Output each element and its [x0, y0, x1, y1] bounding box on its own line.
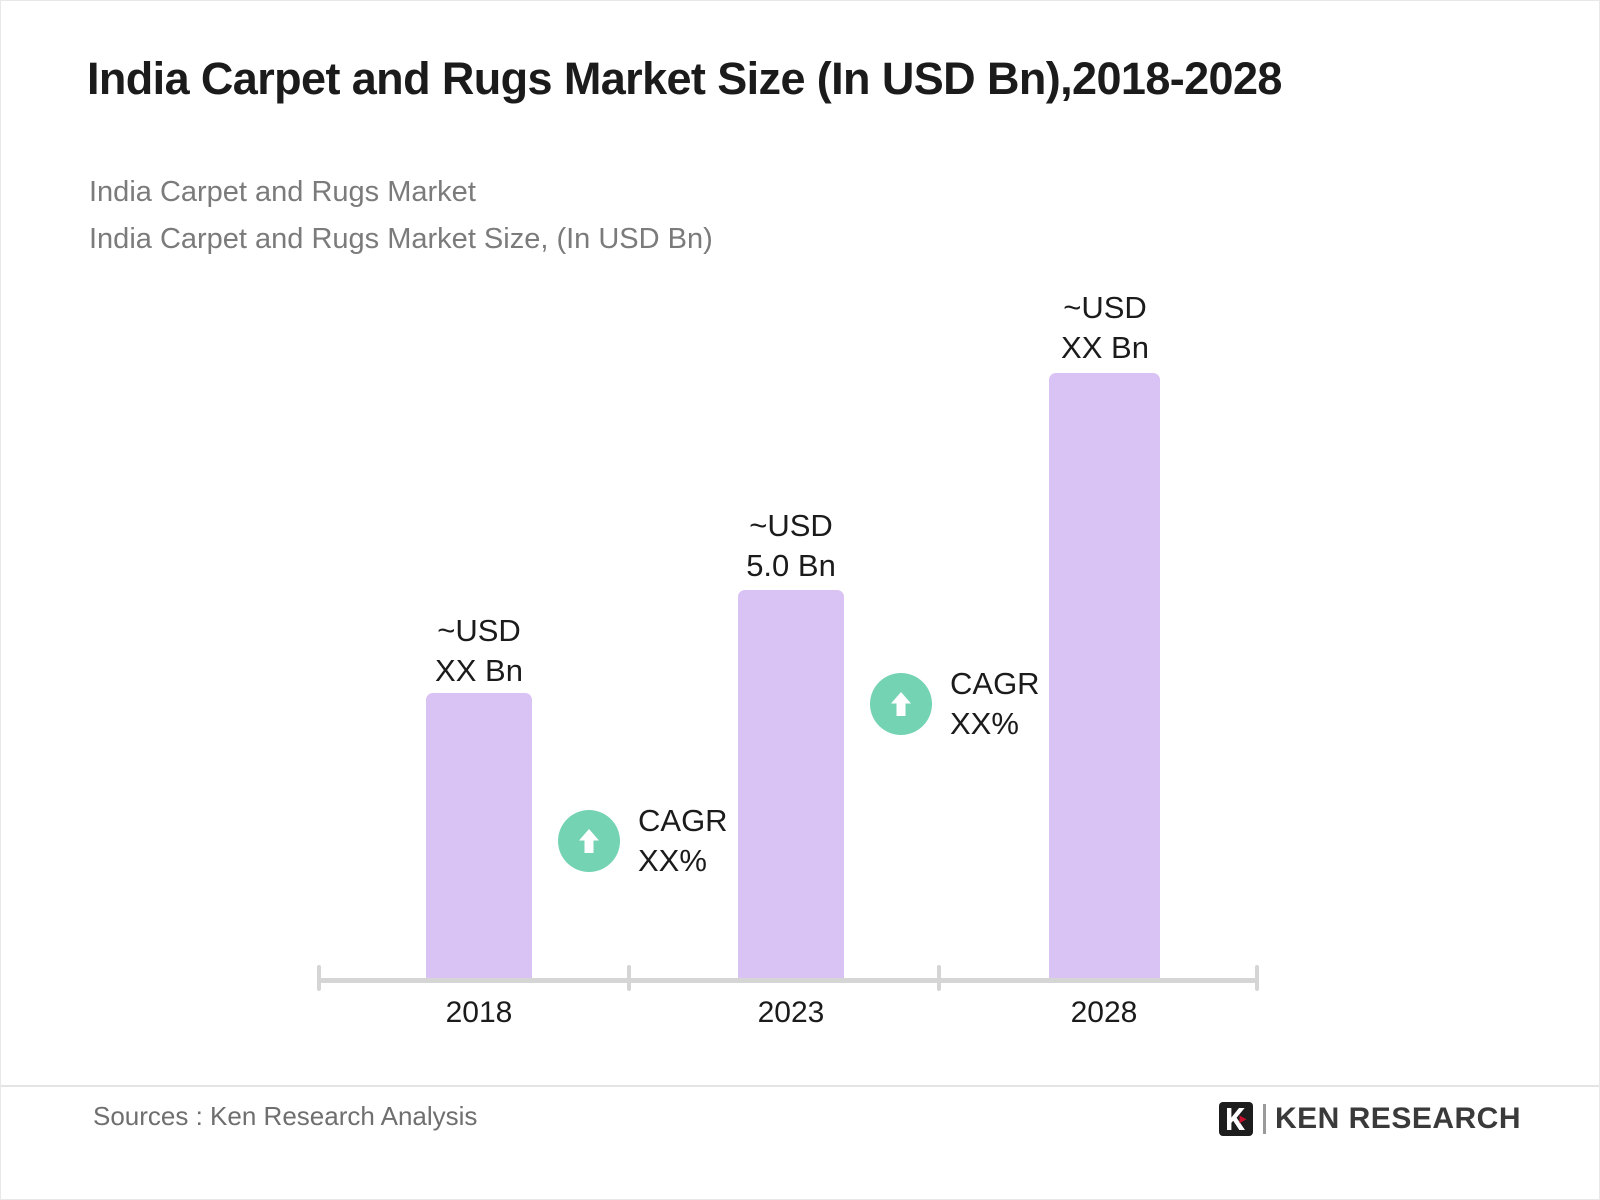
bar-value-2023: ~USD 5.0 Bn [691, 506, 891, 585]
logo-wordmark: KEN RESEARCH [1275, 1102, 1521, 1136]
x-axis-line [317, 978, 1259, 983]
footer-divider [1, 1085, 1600, 1087]
cagr-annotation-1-text: CAGR XX% [638, 801, 728, 880]
cagr-annotation-2-line2: XX% [950, 704, 1040, 744]
axis-tick-end [1255, 965, 1259, 991]
cagr-annotation-2: CAGR XX% [870, 664, 1040, 743]
ken-research-logo: KEN RESEARCH [1218, 1101, 1521, 1137]
axis-tick-2 [937, 965, 941, 991]
cagr-annotation-1-line2: XX% [638, 841, 728, 881]
bar-2028 [1049, 373, 1160, 980]
arrow-up-icon [870, 673, 932, 735]
cagr-annotation-1: CAGR XX% [558, 801, 728, 880]
bar-value-2023-line1: ~USD [691, 506, 891, 546]
bar-value-2018-line1: ~USD [379, 611, 579, 651]
bar-chart-plot: ~USD XX Bn ~USD 5.0 Bn ~USD XX Bn 2018 2… [1, 1, 1600, 1200]
ken-research-logo-icon [1218, 1101, 1254, 1137]
chart-canvas: India Carpet and Rugs Market Size (In US… [0, 0, 1600, 1200]
bar-value-2018: ~USD XX Bn [379, 611, 579, 690]
source-note: Sources : Ken Research Analysis [93, 1101, 477, 1132]
bar-value-2018-line2: XX Bn [379, 651, 579, 691]
cagr-annotation-1-line1: CAGR [638, 801, 728, 841]
bar-2018 [426, 693, 532, 980]
cagr-annotation-2-text: CAGR XX% [950, 664, 1040, 743]
x-tick-label-2023: 2023 [691, 996, 891, 1030]
arrow-up-icon [558, 810, 620, 872]
x-tick-label-2028: 2028 [1004, 996, 1204, 1030]
cagr-annotation-2-line1: CAGR [950, 664, 1040, 704]
axis-tick-start [317, 965, 321, 991]
axis-tick-1 [627, 965, 631, 991]
logo-divider [1263, 1104, 1266, 1134]
bar-value-2023-line2: 5.0 Bn [691, 546, 891, 586]
bar-value-2028: ~USD XX Bn [1005, 288, 1205, 367]
x-tick-label-2018: 2018 [379, 996, 579, 1030]
bar-value-2028-line2: XX Bn [1005, 328, 1205, 368]
bar-value-2028-line1: ~USD [1005, 288, 1205, 328]
bar-2023 [738, 590, 844, 980]
